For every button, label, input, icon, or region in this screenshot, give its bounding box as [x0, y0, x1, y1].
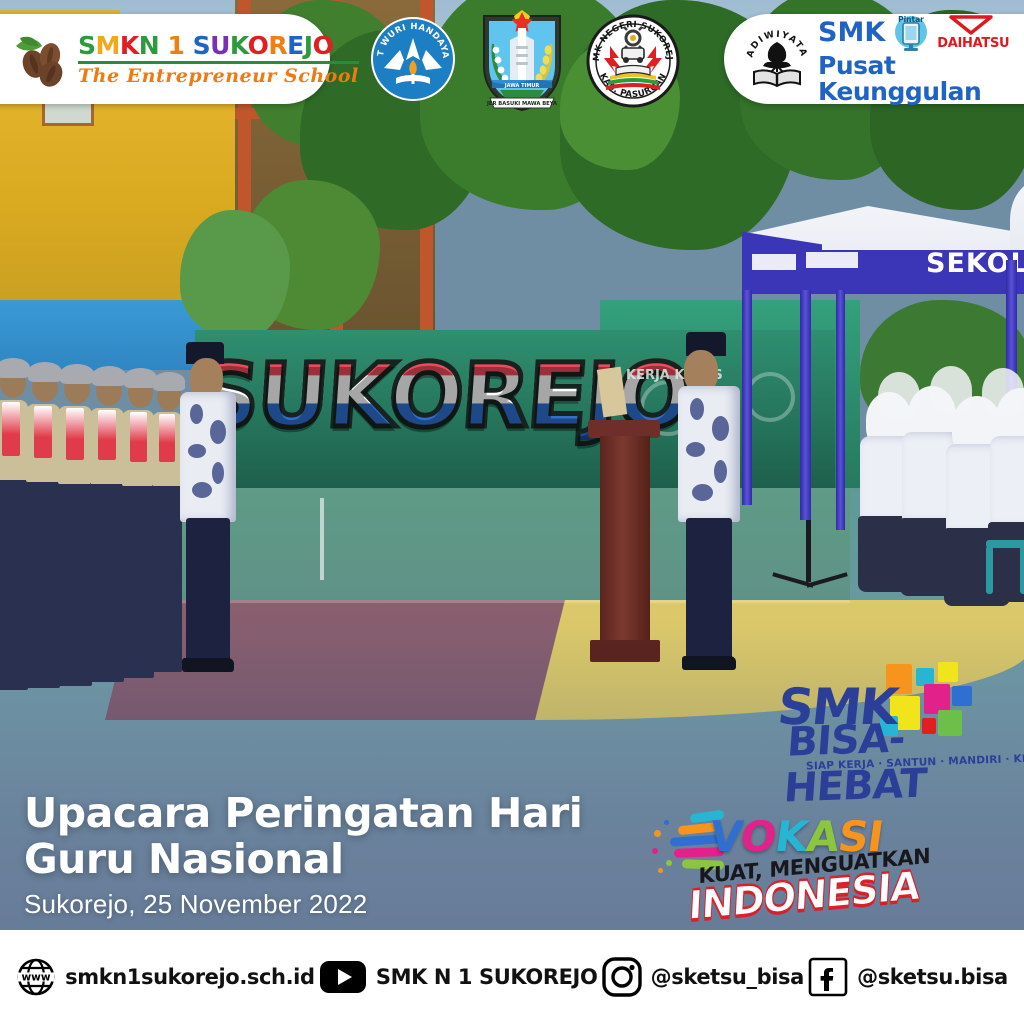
instagram-label: @sketsu_bisa	[651, 965, 804, 989]
globe-www-icon: www	[16, 957, 56, 997]
cocoa-beans-icon	[14, 30, 68, 88]
caption-title-line1: Upacara Peringatan Hari	[24, 791, 664, 837]
daihatsu-logo: DAIHATSU	[937, 14, 1009, 51]
daihatsu-mark-icon	[947, 14, 999, 36]
school-name: SMKN 1 SUKOREJO	[78, 31, 359, 60]
mural-swirl	[745, 372, 795, 422]
caption-subtitle: Sukorejo, 25 November 2022	[24, 889, 664, 920]
smk-label: SMK	[818, 19, 885, 47]
pintar-icon: Pintar	[891, 13, 931, 53]
partner-logos-panel: ADIWIYATA SMK	[724, 14, 1024, 104]
pusat-keunggulan-label: Pusat Keunggulan	[818, 53, 1024, 106]
facebook-label: @sketsu.bisa	[857, 965, 1008, 989]
daihatsu-label: DAIHATSU	[937, 37, 1009, 51]
instagram-icon	[602, 957, 642, 997]
instagram-contact[interactable]: @sketsu_bisa	[602, 957, 804, 997]
caption-block: Upacara Peringatan Hari Guru Nasional Su…	[24, 791, 664, 920]
footer-bar: www smkn1sukorejo.sch.id SMK N 1 SUKOREJ…	[0, 930, 1024, 1024]
svg-text:www: www	[22, 972, 51, 984]
youtube-contact[interactable]: SMK N 1 SUKOREJO	[319, 959, 598, 995]
smk-bisa-hebat-logo: SMK BISA-HEBAT SIAP KERJA · SANTUN · MAN…	[778, 664, 990, 772]
website-contact[interactable]: www smkn1sukorejo.sch.id	[16, 957, 315, 997]
website-label: smkn1sukorejo.sch.id	[65, 965, 315, 989]
school-name-colored: SMKN 1 SUKOREJO	[78, 31, 333, 60]
svg-text:JAWA TIMUR: JAWA TIMUR	[504, 83, 540, 89]
youtube-label: SMK N 1 SUKOREJO	[376, 965, 598, 989]
smk-pusat-keunggulan-text: SMK Pintar DAIHATSU	[818, 13, 1024, 106]
header-bar: SMKN 1 SUKOREJO The Entrepreneur School …	[0, 0, 1024, 118]
adiwiyata-icon: ADIWIYATA	[746, 28, 808, 90]
court-line	[150, 600, 850, 603]
court-green-zone	[150, 488, 850, 618]
smk-negeri-sukorejo-emblem: SMK NEGERI SUKOREJO KAB. PASURUAN	[586, 14, 680, 108]
svg-text:Pintar: Pintar	[898, 15, 924, 24]
facebook-icon	[808, 957, 848, 997]
vokasi-logo: VOKASI KUAT, MENGUATKAN INDONESIA	[650, 808, 912, 928]
facebook-contact[interactable]: @sketsu.bisa	[808, 957, 1008, 997]
svg-text:JER BASUKI MAWA BEYA: JER BASUKI MAWA BEYA	[486, 101, 557, 107]
court-line	[320, 498, 324, 580]
tut-wuri-handayani-emblem: TUT WURI HANDAYANI	[370, 16, 456, 102]
school-logo-panel: SMKN 1 SUKOREJO The Entrepreneur School	[0, 14, 330, 104]
east-java-province-emblem: JAWA TIMUR JER BASUKI MAWA BEYA	[472, 10, 572, 114]
bush-foliage	[180, 210, 290, 340]
poster-root: SUKOREJO KERJA KERAS	[0, 0, 1024, 1024]
school-tagline: The Entrepreneur School	[78, 65, 359, 87]
wordmark-underline	[78, 61, 359, 64]
youtube-icon	[319, 959, 367, 995]
caption-title-line2: Guru Nasional	[24, 837, 664, 883]
